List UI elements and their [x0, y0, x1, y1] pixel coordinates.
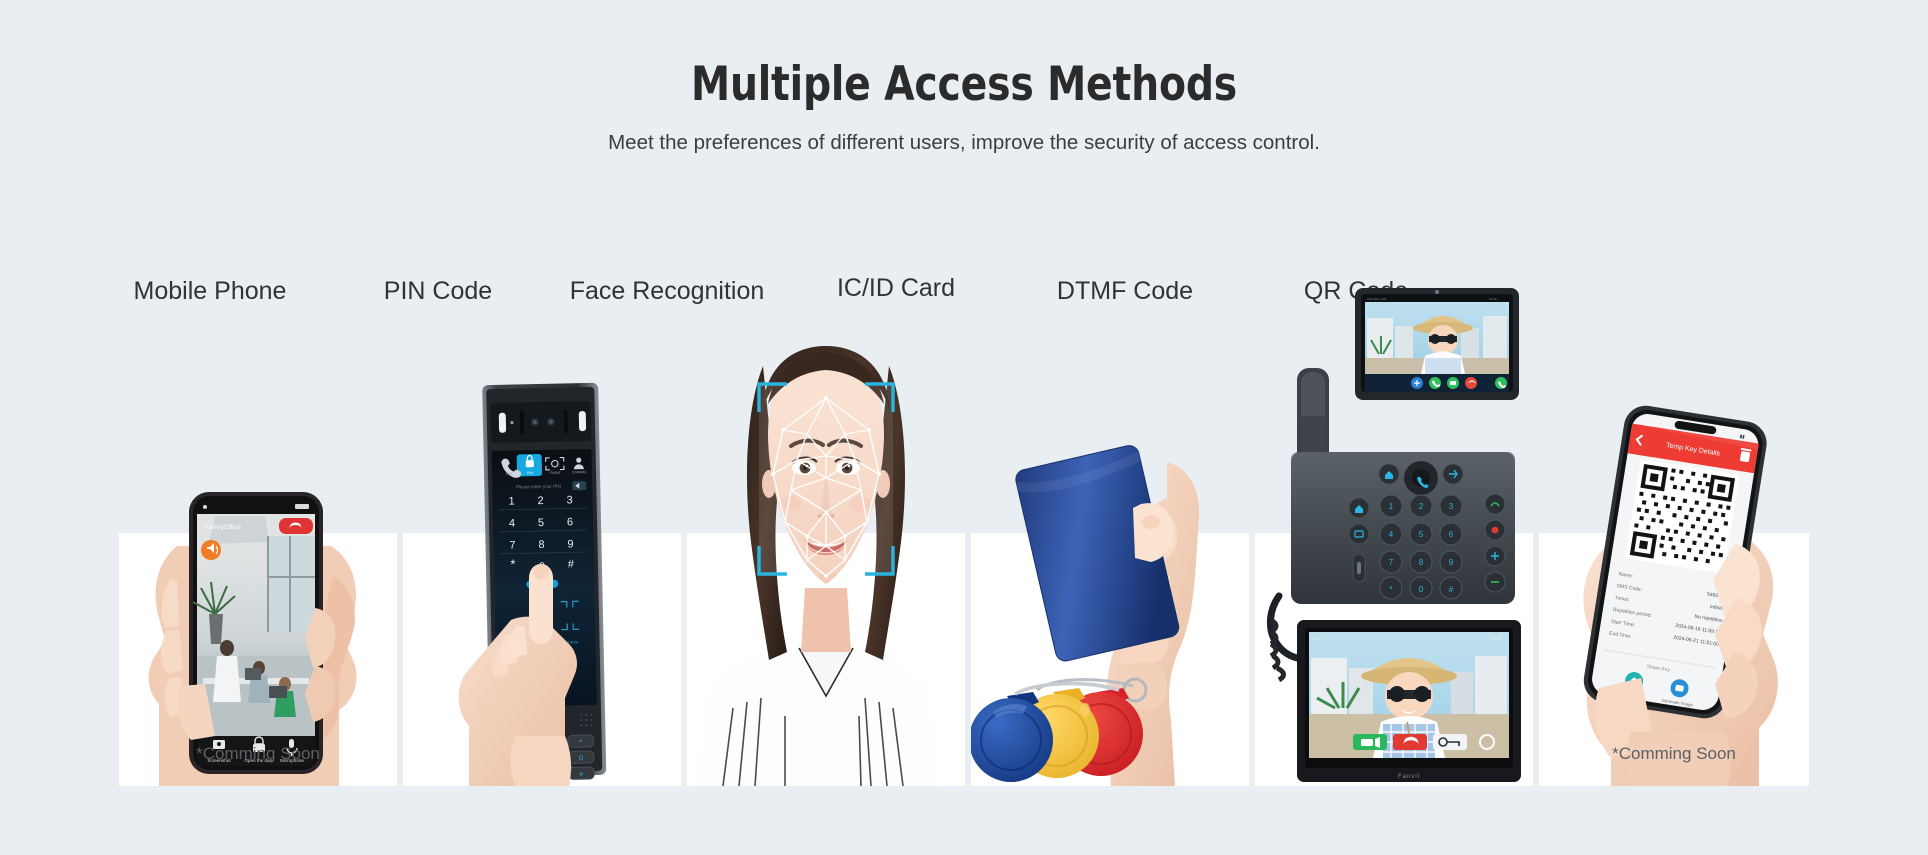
- svg-text:Fanvil: Fanvil: [1398, 774, 1420, 780]
- svg-text:1: 1: [1389, 502, 1394, 511]
- method-card-qr-code[interactable]: ▮▮ Temp Key Details: [1539, 533, 1809, 786]
- svg-text:Fanvil: Fanvil: [556, 765, 573, 771]
- coming-soon-note-qr-code: *Comming Soon: [1539, 744, 1809, 764]
- page-title: Multiple Access Methods: [67, 60, 1860, 109]
- svg-text:Share: Share: [1626, 692, 1639, 699]
- svg-text:Temp Key Details: Temp Key Details: [1666, 442, 1721, 458]
- svg-text:8: 8: [1419, 558, 1424, 567]
- svg-text:14:35: 14:35: [1491, 636, 1502, 641]
- svg-text:End Time:: End Time:: [1609, 631, 1632, 640]
- svg-text:Start Time:: Start Time:: [1611, 619, 1636, 629]
- svg-text:4: 4: [1389, 530, 1394, 539]
- svg-text:Repetition period:: Repetition period:: [1612, 607, 1652, 619]
- svg-text:08:2: 08:2: [1313, 636, 1322, 641]
- svg-text:Name:: Name:: [1618, 571, 1633, 579]
- svg-text:6: 6: [1449, 530, 1454, 539]
- svg-text:5: 5: [1419, 530, 1424, 539]
- svg-text:9: 9: [567, 538, 573, 550]
- svg-text:2024-06-21 11:51:00: 2024-06-21 11:51:00: [1673, 635, 1720, 648]
- svg-text:5: 5: [538, 517, 544, 529]
- svg-text:SMS Code:: SMS Code:: [1616, 583, 1642, 593]
- svg-text:PIN: PIN: [527, 471, 533, 475]
- coming-soon-note-mobile-phone: *Comming Soon: [119, 744, 397, 764]
- svg-text:Please enter your PIN: Please enter your PIN: [516, 484, 561, 490]
- svg-text:Hint: Hint: [1719, 581, 1729, 588]
- svg-text:0: 0: [579, 755, 583, 762]
- svg-text:#: #: [1449, 585, 1454, 594]
- page-subtitle: Meet the preferences of different users,…: [0, 131, 1928, 155]
- svg-text:#: #: [579, 771, 583, 778]
- svg-text:Contacts: Contacts: [572, 470, 586, 474]
- svg-text:3: 3: [566, 494, 572, 506]
- svg-text:Generate Image: Generate Image: [1661, 698, 1694, 708]
- svg-text:0: 0: [539, 561, 545, 573]
- method-card-pin-code[interactable]: Dial PIN Facial Contacts Please enter yo…: [403, 533, 681, 786]
- method-card-ic-id-card[interactable]: [971, 533, 1249, 786]
- svg-text:8: 8: [538, 539, 544, 551]
- svg-text:▮▮: ▮▮: [1739, 434, 1745, 440]
- svg-text:Infinite: Infinite: [1709, 604, 1725, 612]
- svg-text:4: 4: [509, 518, 515, 530]
- method-card-dtmf-code[interactable]: 192.168.1.101 15:30: [1255, 533, 1533, 786]
- svg-text:Times:: Times:: [1614, 595, 1630, 603]
- method-card-mobile-phone[interactable]: FamilyOffice: [119, 533, 397, 786]
- svg-text:5469923: 5469923: [1707, 591, 1727, 600]
- svg-text:2: 2: [1419, 502, 1424, 511]
- svg-text:Facial: Facial: [550, 471, 560, 475]
- svg-text:*: *: [510, 557, 515, 572]
- multiple-access-methods-section: Multiple Access Methods Meet the prefere…: [0, 0, 1928, 855]
- method-label-qr-code: QR Code: [392, 277, 1928, 306]
- svg-text:No repetition: No repetition: [1694, 614, 1723, 624]
- svg-text:3: 3: [1449, 502, 1454, 511]
- svg-text:FamilyOffice: FamilyOffice: [205, 524, 241, 531]
- svg-text:2: 2: [537, 495, 543, 507]
- svg-text:6: 6: [567, 516, 573, 528]
- svg-text:card area: card area: [561, 639, 579, 644]
- svg-text:7: 7: [1389, 558, 1394, 567]
- svg-text:Share Key: Share Key: [1646, 664, 1670, 674]
- method-labels: Mobile Phone PIN Code Face Recognition I…: [0, 275, 1928, 321]
- section-header: Multiple Access Methods Meet the prefere…: [0, 60, 1928, 155]
- svg-text:1: 1: [508, 496, 514, 508]
- svg-text:*: *: [1389, 585, 1392, 594]
- svg-text:0: 0: [1419, 585, 1424, 594]
- svg-text:#: #: [568, 558, 575, 570]
- svg-text:*: *: [579, 739, 582, 746]
- svg-text:2024-06-16 11:59:17: 2024-06-16 11:59:17: [1675, 623, 1722, 636]
- svg-text:Dial: Dial: [506, 472, 512, 476]
- svg-text:7: 7: [509, 540, 515, 552]
- method-cards-strip: FamilyOffice: [119, 533, 1809, 786]
- method-card-face-recognition[interactable]: [687, 533, 965, 786]
- svg-text:9: 9: [1449, 558, 1454, 567]
